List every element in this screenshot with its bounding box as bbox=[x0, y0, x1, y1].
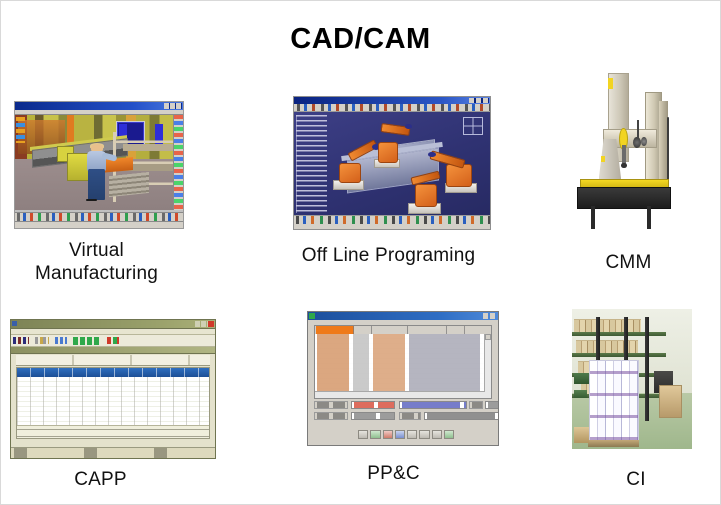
ci-shelf-1 bbox=[572, 332, 666, 336]
ppc-data-grid[interactable] bbox=[314, 325, 492, 399]
slide-canvas: CAD/CAM Vi bbox=[0, 0, 721, 505]
capp-toolbar-group-exit[interactable] bbox=[107, 337, 119, 344]
vm-status-bar bbox=[15, 221, 183, 228]
ppc-form-row-1 bbox=[314, 401, 492, 409]
vm-pallet-stack bbox=[109, 172, 149, 197]
cmm-stand-leg-left bbox=[591, 206, 595, 229]
ppc-system-icon[interactable] bbox=[309, 313, 315, 319]
ppc-nav-button-prev[interactable] bbox=[407, 430, 417, 439]
olp-title-bar[interactable] bbox=[294, 97, 490, 104]
ppc-form-area[interactable] bbox=[314, 401, 492, 421]
olp-robot-4 bbox=[404, 174, 451, 214]
capp-system-icon[interactable] bbox=[12, 321, 17, 326]
olp-robot-2 bbox=[367, 124, 414, 168]
caption-off-line-programming: Off Line Programing bbox=[301, 244, 476, 267]
olp-robot-tool bbox=[405, 124, 412, 129]
ci-photo bbox=[572, 309, 692, 449]
page-title: CAD/CAM bbox=[1, 23, 720, 56]
ci-shelf-2 bbox=[572, 353, 666, 357]
vm-title-bar[interactable] bbox=[15, 102, 183, 110]
ppc-nav-button-next[interactable] bbox=[419, 430, 429, 439]
vm-operator-legs bbox=[88, 169, 105, 199]
vm-3d-viewport[interactable] bbox=[15, 115, 183, 210]
ppc-grid-horizontal-scrollbar[interactable] bbox=[315, 391, 485, 398]
capp-title-bar[interactable] bbox=[11, 320, 215, 329]
caption-ppc: PP&C bbox=[306, 462, 481, 485]
ppc-field-ano[interactable] bbox=[485, 401, 499, 409]
caption-capp: CAPP bbox=[13, 468, 188, 491]
capp-toolbar-group-file[interactable] bbox=[13, 337, 29, 344]
ppc-navigation-buttons[interactable] bbox=[358, 430, 454, 439]
vm-right-toolbar[interactable] bbox=[173, 115, 183, 210]
capp-tab-strip[interactable] bbox=[16, 355, 210, 366]
virtual-manufacturing-screenshot[interactable] bbox=[14, 101, 184, 229]
olp-3d-viewport[interactable] bbox=[294, 112, 490, 216]
capp-toolbar-group-view[interactable] bbox=[55, 337, 67, 344]
ci-shelf-post-3 bbox=[645, 317, 649, 421]
capp-toolbar-group-edit[interactable] bbox=[35, 337, 49, 344]
olp-status-bar bbox=[294, 224, 490, 229]
close-icon[interactable] bbox=[208, 321, 214, 327]
vm-left-toolbar[interactable] bbox=[16, 117, 25, 143]
capp-data-grid[interactable] bbox=[16, 367, 210, 439]
ci-green-bin-1 bbox=[574, 373, 589, 383]
ppc-field-codigo-reparto[interactable] bbox=[351, 412, 395, 420]
ci-pallet-stack bbox=[589, 360, 639, 440]
cmm-adjust-knob-2 bbox=[641, 137, 647, 146]
ppc-nav-button-first[interactable] bbox=[358, 430, 368, 439]
ppc-title-bar[interactable] bbox=[308, 312, 498, 320]
ppc-form-row-2 bbox=[314, 412, 492, 420]
capp-status-bar bbox=[11, 447, 215, 458]
cmm-column-label bbox=[608, 78, 614, 89]
capp-toolbar-group-actions[interactable] bbox=[73, 337, 99, 345]
olp-toolbar[interactable] bbox=[294, 104, 490, 112]
vm-shelf-level-1 bbox=[123, 144, 173, 152]
ppc-field-descripcion[interactable] bbox=[424, 412, 499, 420]
cmm-ram-label bbox=[601, 156, 605, 162]
ci-floor-box-2 bbox=[574, 427, 588, 444]
caption-cmm: CMM bbox=[556, 251, 701, 274]
cmm-short-cable bbox=[637, 120, 639, 139]
caption-ci: CI bbox=[571, 468, 701, 491]
cmm-photo bbox=[573, 73, 685, 229]
olp-specification-tree[interactable] bbox=[296, 115, 327, 213]
olp-window-buttons[interactable] bbox=[469, 98, 489, 103]
off-line-programming-screenshot[interactable] bbox=[293, 96, 491, 230]
ppc-field-label-codigo-config bbox=[314, 401, 348, 409]
olp-compass-icon[interactable] bbox=[463, 117, 483, 135]
olp-robot-body bbox=[339, 163, 361, 184]
ppc-window-buttons[interactable] bbox=[483, 313, 497, 319]
capp-section-header bbox=[11, 347, 215, 354]
vm-window-buttons[interactable] bbox=[164, 103, 182, 109]
ppc-nav-button-accept[interactable] bbox=[444, 430, 454, 439]
ppc-field-codigo-config[interactable] bbox=[351, 401, 395, 409]
ppc-nav-button-filter[interactable] bbox=[370, 430, 380, 439]
caption-virtual-manufacturing: Virtual Manufacturing bbox=[9, 239, 184, 285]
olp-robot-body bbox=[415, 184, 437, 207]
ppc-field-label-descripcion bbox=[399, 412, 421, 420]
ci-green-bin-2 bbox=[574, 390, 587, 398]
ci-floor-box bbox=[659, 385, 683, 418]
ppc-grid-rows[interactable] bbox=[315, 334, 485, 392]
ppc-grid-header-selected-column[interactable] bbox=[316, 326, 354, 334]
ppc-field-descripcion-config[interactable] bbox=[399, 401, 467, 409]
capp-screenshot[interactable] bbox=[10, 319, 216, 459]
ppc-screenshot[interactable] bbox=[307, 311, 499, 446]
capp-toolbar[interactable] bbox=[11, 335, 215, 347]
olp-bottom-toolbar[interactable] bbox=[294, 215, 490, 224]
capp-grid-footer-note bbox=[17, 425, 209, 438]
ppc-nav-button-delete[interactable] bbox=[383, 430, 393, 439]
cmm-stand-leg-right bbox=[647, 206, 651, 229]
ppc-field-label-ano bbox=[469, 401, 483, 409]
ppc-grid-vertical-scrollbar[interactable] bbox=[484, 334, 491, 398]
ppc-nav-button-edit[interactable] bbox=[395, 430, 405, 439]
olp-robot-body bbox=[378, 142, 398, 163]
ppc-nav-button-last[interactable] bbox=[432, 430, 442, 439]
cmm-probe-tip bbox=[621, 163, 627, 168]
capp-grid-rows[interactable] bbox=[17, 377, 209, 426]
ppc-field-label-codigo-reparto bbox=[314, 412, 348, 420]
